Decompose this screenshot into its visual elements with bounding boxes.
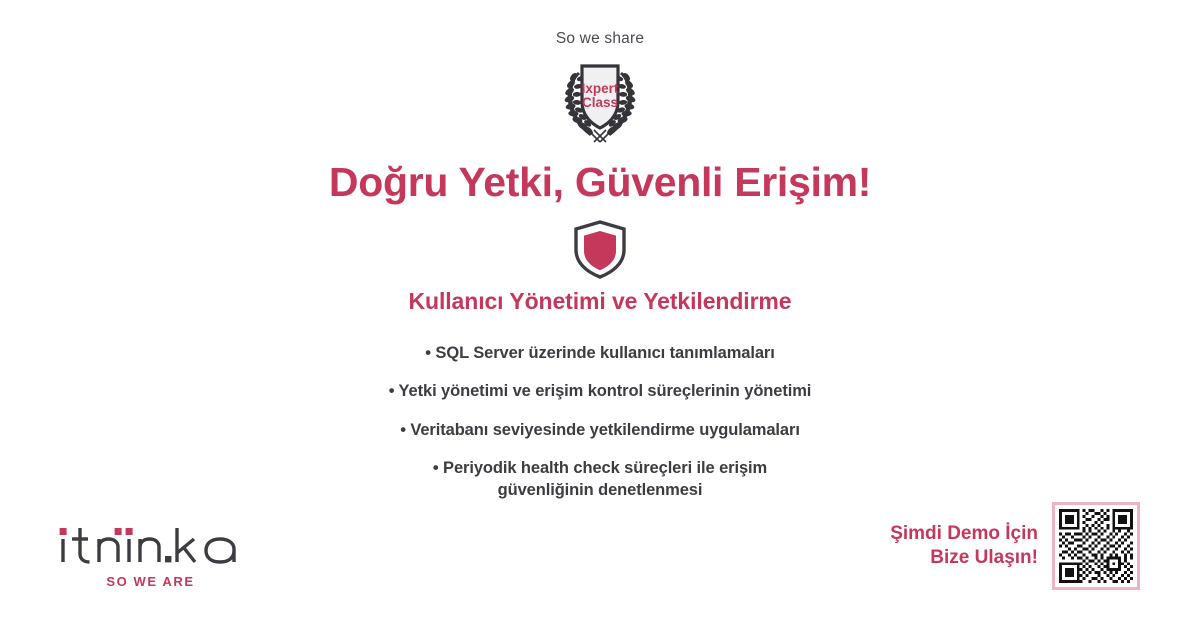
ithinka-logo-icon [58,524,243,568]
laurel-shield-emblem-icon: Ixpert Class [550,52,650,144]
qr-code-icon[interactable] [1052,502,1140,590]
feature-bullet-list: • SQL Server üzerinde kullanıcı tanımlam… [0,334,1200,509]
list-item: • SQL Server üzerinde kullanıcı tanımlam… [425,334,774,372]
cta-text: Şimdi Demo İçin Bize Ulaşın! [890,522,1038,570]
section-subtitle: Kullanıcı Yönetimi ve Yetkilendirme [0,288,1200,315]
cta-line-2: Bize Ulaşın! [890,546,1038,570]
badge-line1: Ixpert [582,81,619,96]
list-item: • Veritabanı seviyesinde yetkilendirme u… [400,411,800,449]
ixpert-class-badge: So we share [0,30,1200,144]
logo-dot-i [60,528,67,535]
list-item: • Periyodik health check süreçleri ile e… [400,449,800,510]
page-title: Doğru Yetki, Güvenli Erişim! [0,160,1200,205]
logo-slogan: SO WE ARE [58,574,243,589]
shield-icon [569,218,631,280]
logo-dot-i2 [126,528,133,535]
cta-line-1: Şimdi Demo İçin [890,522,1038,546]
badge-tagline: So we share [556,30,644,48]
demo-cta[interactable]: Şimdi Demo İçin Bize Ulaşın! [890,502,1140,590]
ithinka-logo: SO WE ARE [58,524,288,589]
slide-canvas: So we share [0,0,1200,628]
shield-icon-wrapper [0,218,1200,280]
logo-period [165,556,171,562]
list-item: • Yetki yönetimi ve erişim kontrol süreç… [389,372,812,410]
badge-line2: Class [582,95,618,110]
logo-dot-h [115,528,122,535]
